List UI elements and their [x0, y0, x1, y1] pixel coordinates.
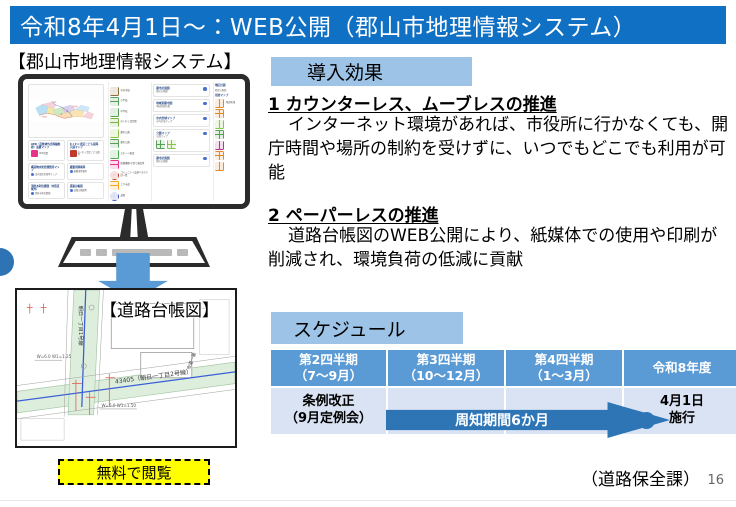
schedule-header-cell: 第3四半期 （10〜12月） [388, 350, 504, 386]
link-dot-icon [31, 192, 34, 195]
schedule-cell-q3 [388, 388, 504, 434]
icon-item-label: 小学校 [121, 100, 128, 103]
grid-tile-icon [215, 120, 224, 129]
far-card-title: 地区計画 [215, 84, 241, 87]
grid-tile-icon [110, 181, 119, 190]
svg-text:朝日一丁目1号線: 朝日一丁目1号線 [77, 306, 85, 347]
grid-tile-icon [110, 108, 119, 117]
schedule-table: 第2四半期 （7〜9月） 第3四半期 （10〜12月） 第4四半期 （1〜3月）… [269, 348, 736, 436]
icon-item-label: 医療機関・子育て施設等 [121, 163, 145, 166]
cell-line2: （9月定例会） [271, 411, 386, 428]
gis-link-card[interactable]: 都市計画図 都市計画図 [153, 84, 210, 97]
card-title: 構造物水防危険箇所マップ [31, 166, 62, 172]
grid-tile-icon [110, 87, 119, 96]
card-swatch-icon [31, 150, 38, 157]
gis-icon-item[interactable] [215, 141, 241, 150]
svg-text:W=6.0 W1=1.25: W=6.0 W1=1.25 [37, 354, 72, 359]
free-viewing-badge: 無料で閲覧 [58, 459, 210, 485]
gis-link-card[interactable]: 都市計画図 都市計画図 [153, 154, 210, 167]
gis-icon-item[interactable]: コミュニティ交通バスのりば一覧 [110, 171, 149, 180]
link-card-sub: 公園マップ [156, 136, 207, 139]
link-dot-icon [203, 87, 207, 91]
gis-icon-item[interactable]: 都市公園 [110, 139, 149, 148]
footer-department: （道路保全課） [581, 465, 700, 490]
icon-item-label: 都市公園 [121, 142, 130, 145]
grid-tile-icon [215, 109, 224, 118]
card-swatch-icon [70, 150, 77, 157]
gis-icon-item[interactable]: 上下水道 [110, 181, 149, 190]
grid-tile-icon [110, 129, 119, 138]
gis-icon-item[interactable] [215, 151, 241, 160]
card-body: 避難所情報等 [70, 170, 101, 173]
grid-tile-icon [215, 151, 224, 160]
effects-banner-label: 導入効果 [307, 58, 383, 85]
icon-item-label: コミュニティ交通バスのりば一覧 [121, 172, 149, 177]
gis-service-card[interactable]: 道路台帳図 道路台帳図等 [67, 182, 104, 199]
schedule-cell-ordinance: 条例改正 （9月定例会） [271, 388, 386, 434]
page-title: 令和8年4月1日〜：WEB公開（郡山市地理情報システム） [20, 8, 636, 42]
gis-icon-item[interactable]: 医療機関・子育て施設等 [110, 160, 149, 169]
keyboard-key [177, 249, 188, 256]
gis-service-card[interactable]: わくわく認定こども園等入園マップ わくわく認定こども園等 [67, 140, 104, 161]
svg-text:W=6.0 W1=1.50: W=6.0 W1=1.50 [101, 403, 136, 408]
card-body: 浸水想定区域等マップ [31, 173, 62, 176]
grid-tile-icon [215, 99, 224, 108]
gis-icon-item[interactable] [215, 130, 241, 139]
link-dot-icon [70, 189, 73, 192]
header-line2: （10〜12月） [388, 368, 504, 384]
gis-icon-item[interactable]: 用途地域 [215, 99, 241, 108]
koriyama-city-map-thumbnail[interactable] [28, 84, 104, 138]
link-card-sub: 都市計画図 [156, 91, 207, 94]
road-ledger-caption: 【道路台帳図】 [100, 296, 219, 321]
keyboard-key [96, 249, 107, 256]
card-text: 浸水想定区域等マップ [35, 174, 57, 176]
card-body: 道路台帳図等 [70, 189, 101, 192]
gis-icon-item[interactable]: 都市公園 [110, 129, 149, 138]
header-line2: （7〜9月） [271, 368, 386, 384]
schedule-header-row: 第2四半期 （7〜9月） 第3四半期 （10〜12月） 第4四半期 （1〜3月）… [271, 350, 736, 386]
grid-tile-icon [110, 150, 119, 159]
grid-tile-icon [215, 141, 224, 150]
gis-icon-item[interactable]: 道路 [110, 192, 149, 201]
icon-item-label: 中学校 [121, 111, 128, 114]
icon-item-label: 道路 [121, 195, 126, 198]
grid-tile-icon [110, 160, 119, 169]
card-body: わくわく認定こども園等 [70, 150, 101, 157]
header-line1: 第4四半期 [506, 352, 622, 368]
grid-tile-icon [110, 139, 119, 148]
icon-item-label: スポーツ施設 [121, 153, 135, 156]
gis-link-card[interactable]: 公園マップ 公園マップ [153, 129, 210, 152]
icon-item-label: わくわく認定園 [121, 121, 137, 124]
gis-icon-item[interactable] [156, 140, 207, 149]
bus-stop-icon [110, 171, 119, 180]
gis-far-column: 地区計画 地区計画図 用途マップ 用途地域 [213, 82, 242, 201]
road-icon [110, 192, 119, 201]
header-line1: 第3四半期 [388, 352, 504, 368]
schedule-header-cell: 令和8年度 [624, 350, 736, 386]
schedule-header-cell: 第2四半期 （7〜9月） [271, 350, 386, 386]
link-card-sub: 都市計画図 [156, 161, 207, 164]
gis-service-card[interactable]: 消防水利位置図（市街区域外） 消防水利位置図 [28, 182, 65, 199]
card-text: 道路台帳図等 [74, 190, 87, 192]
gis-left-column: AED（自動体外式除細動器）設置マップ AED設置 わくわく認定こども園等入園マ… [26, 82, 106, 201]
card-title: AED（自動体外式除細動器）設置マップ [31, 143, 62, 149]
schedule-banner: スケジュール [271, 312, 463, 344]
card-body: 消防水利位置図 [31, 192, 62, 195]
icon-item-label: 都市公園 [121, 132, 130, 135]
slide-title-bar: 令和8年4月1日〜：WEB公開（郡山市地理情報システム） [10, 6, 726, 44]
effect-heading-2: 2 ペーパーレスの推進 [268, 201, 439, 226]
card-text: AED設置 [39, 153, 48, 155]
card-text: わくわく認定こども園等 [78, 152, 101, 157]
grid-tile-icon [156, 140, 165, 149]
gis-icon-item[interactable] [215, 109, 241, 118]
gis-portal-screenshot: AED（自動体外式除細動器）設置マップ AED設置 わくわく認定こども園等入園マ… [26, 82, 242, 201]
grid-tile-icon [110, 118, 119, 127]
gis-service-card[interactable]: 避難所情報等 避難所情報等 [67, 163, 104, 180]
gis-icon-item[interactable] [215, 162, 241, 171]
gis-icon-item[interactable] [215, 120, 241, 129]
gis-link-card[interactable]: 市内全域マップ 市内全域マップ [153, 114, 210, 127]
grid-tile-icon [215, 130, 224, 139]
icon-item-label: 用途地域 [226, 102, 235, 105]
link-dot-icon [31, 173, 34, 176]
card-title: 消防水利位置図（市街区域外） [31, 185, 62, 191]
header-line1: 第2四半期 [271, 352, 386, 368]
gis-service-card[interactable]: AED（自動体外式除細動器）設置マップ AED設置 [28, 140, 65, 161]
gis-system-caption: 【郡山市地理情報システム】 [8, 48, 241, 74]
milestone-dot-icon [638, 412, 655, 429]
header-line2: （1〜3月） [506, 368, 622, 384]
gis-icon-item[interactable]: スポーツ施設 [110, 150, 149, 159]
slide-root: 令和8年4月1日〜：WEB公開（郡山市地理情報システム） 【郡山市地理情報システ… [0, 0, 736, 507]
card-title: 避難所情報等 [70, 166, 101, 169]
grid-tile-icon [110, 97, 119, 106]
footer-divider [0, 500, 736, 501]
card-body: AED設置 [31, 150, 62, 157]
link-card-sub: 地域別都市図 [156, 106, 207, 109]
decorative-circle [0, 248, 14, 276]
effect-body-1: インターネット環境があれば、市役所に行かなくても、開庁時間や場所の制約を受けずに… [268, 113, 732, 185]
card-text: 避難所情報等 [74, 171, 87, 173]
keyboard-key [80, 249, 91, 256]
gis-icon-list-column: 市内全域 小学校 中学校 わくわく認定園 都市公園 [108, 82, 150, 201]
schedule-cell-q4 [506, 388, 622, 434]
link-dot-icon [70, 170, 73, 173]
gis-service-card-grid: AED（自動体外式除細動器）設置マップ AED設置 わくわく認定こども園等入園マ… [28, 140, 104, 199]
footer-page-number: 16 [707, 473, 724, 488]
grid-tile-icon [215, 162, 224, 171]
effects-banner: 導入効果 [271, 57, 472, 86]
schedule-body-row: 条例改正 （9月定例会） 4月1日 施行 [271, 388, 736, 434]
gis-icon-item[interactable]: 中学校 [110, 108, 149, 117]
header-line1: 令和8年度 [624, 360, 736, 376]
effect-heading-1: 1 カウンターレス、ムーブレスの推進 [268, 90, 557, 115]
gis-link-card[interactable]: 地域別都市図 地域別都市図 [153, 99, 210, 112]
gis-link-card-column: 都市計画図 都市計画図 地域別都市図 地域別都市図 市内全域マップ 市内全域マッ… [151, 82, 211, 201]
icon-item-label: 市内全域 [121, 90, 130, 93]
monitor-stand-neck [110, 209, 158, 237]
free-viewing-label: 無料で閲覧 [96, 462, 171, 483]
gis-service-card[interactable]: 構造物水防危険箇所マップ 浸水想定区域等マップ [28, 163, 65, 180]
card-text: 消防水利位置図 [35, 193, 50, 195]
gis-icon-item[interactable]: 市内全域 [110, 87, 149, 96]
card-title: 道路台帳図 [70, 185, 101, 188]
far-card-title: 用途マップ [215, 94, 241, 97]
cell-line1: 条例改正 [271, 394, 386, 411]
monitor-illustration: AED（自動体外式除細動器）設置マップ AED設置 わくわく認定こども園等入園マ… [18, 74, 250, 209]
icon-item-label: 上下水道 [121, 184, 130, 187]
link-card-sub: 市内全域マップ [156, 121, 207, 124]
card-title: わくわく認定こども園等入園マップ [70, 143, 101, 149]
schedule-banner-label: スケジュール [293, 315, 406, 342]
gis-icon-item[interactable]: 小学校 [110, 97, 149, 106]
effect-body-2: 道路台帳図のWEB公開により、紙媒体での使用や印刷が削減され、環境負荷の低減に貢… [268, 224, 732, 272]
cell-line1: 4月1日 [624, 394, 736, 411]
gis-icon-item[interactable]: わくわく認定園 [110, 118, 149, 127]
schedule-header-cell: 第4四半期 （1〜3月） [506, 350, 622, 386]
grid-tile-icon [167, 140, 176, 149]
